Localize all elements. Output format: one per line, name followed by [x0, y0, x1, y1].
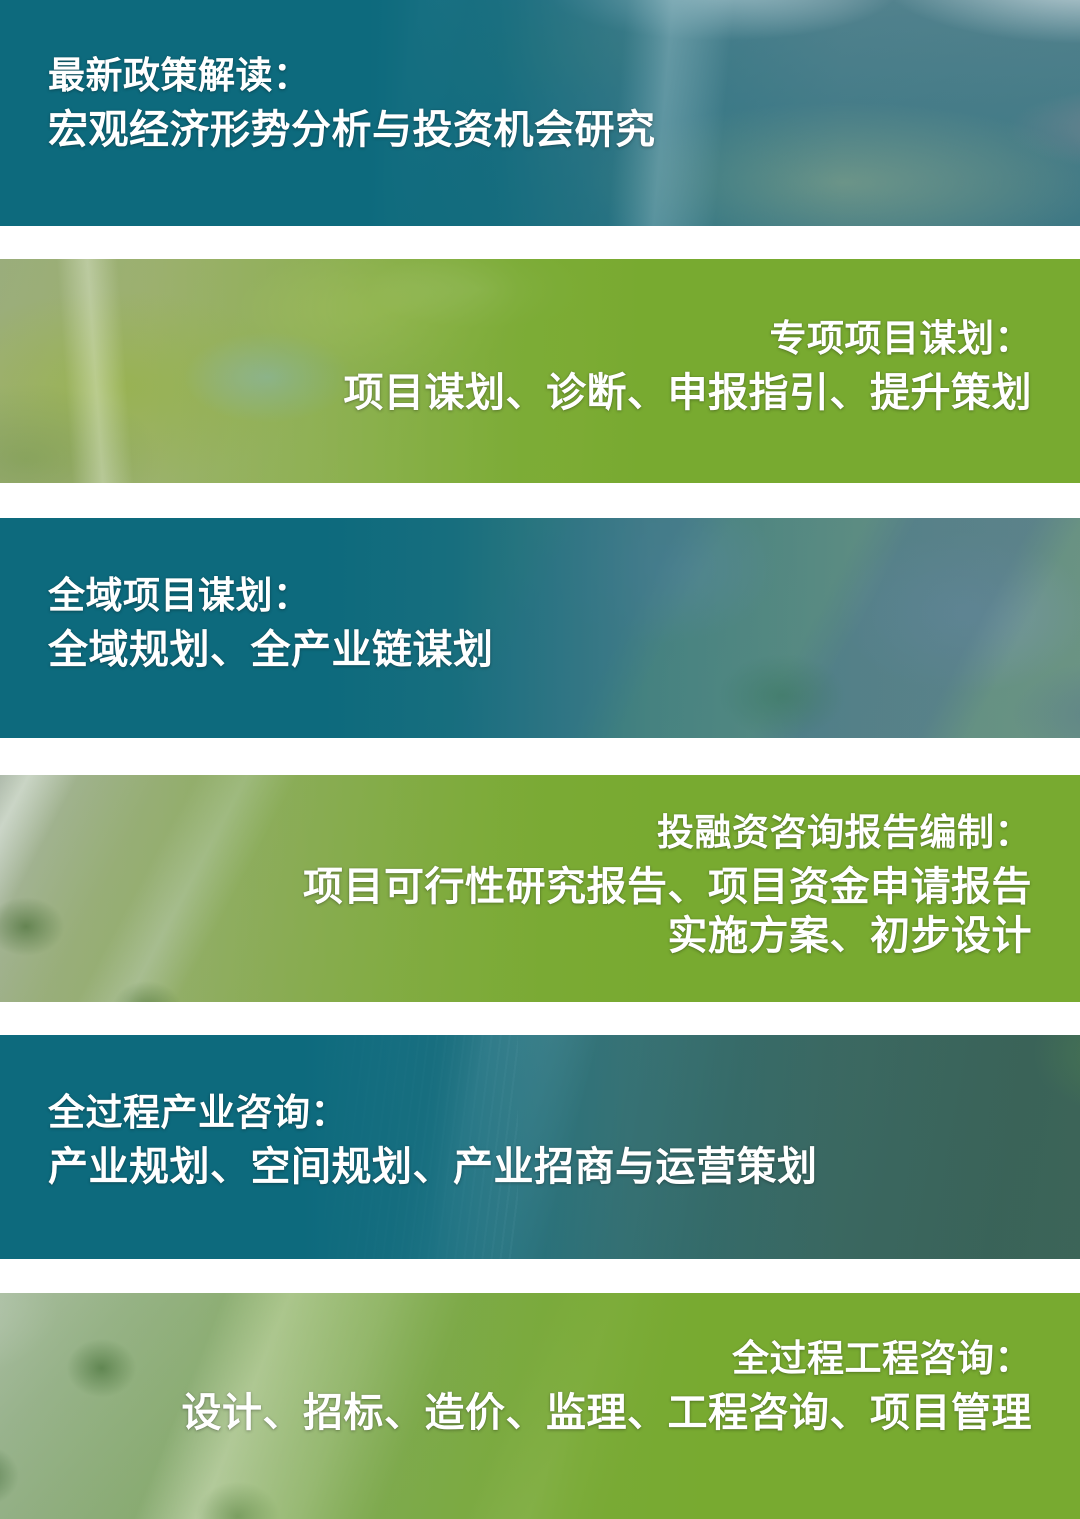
- banner-engineering-consulting[interactable]: 全过程工程咨询： 设计、招标、造价、监理、工程咨询、项目管理: [0, 1293, 1080, 1519]
- banner-special-project-heading: 专项项目谋划：: [344, 317, 1033, 361]
- banner-investment-report[interactable]: 投融资咨询报告编制： 项目可行性研究报告、项目资金申请报告 实施方案、初步设计: [0, 775, 1080, 1002]
- banner-engineering-consulting-text: 全过程工程咨询： 设计、招标、造价、监理、工程咨询、项目管理: [182, 1337, 1033, 1437]
- banner-regional-project-line-1: 全域规划、全产业链谋划: [48, 627, 494, 674]
- banner-regional-project-text: 全域项目谋划： 全域规划、全产业链谋划: [48, 574, 494, 674]
- banner-regional-project-heading: 全域项目谋划：: [48, 574, 494, 618]
- banner-special-project[interactable]: 专项项目谋划： 项目谋划、诊断、申报指引、提升策划: [0, 259, 1080, 483]
- banner-policy-text: 最新政策解读： 宏观经济形势分析与投资机会研究: [48, 54, 656, 154]
- banner-investment-report-line-2: 实施方案、初步设计: [303, 913, 1032, 960]
- banner-policy[interactable]: 最新政策解读： 宏观经济形势分析与投资机会研究: [0, 0, 1080, 226]
- banner-investment-report-text: 投融资咨询报告编制： 项目可行性研究报告、项目资金申请报告 实施方案、初步设计: [303, 811, 1032, 960]
- banner-industry-consulting-line-1: 产业规划、空间规划、产业招商与运营策划: [48, 1144, 818, 1191]
- service-banner-poster: 最新政策解读： 宏观经济形势分析与投资机会研究 专项项目谋划： 项目谋划、诊断、…: [0, 0, 1080, 1519]
- banner-special-project-text: 专项项目谋划： 项目谋划、诊断、申报指引、提升策划: [344, 317, 1033, 417]
- banner-policy-heading: 最新政策解读：: [48, 54, 656, 98]
- banner-special-project-line-1: 项目谋划、诊断、申报指引、提升策划: [344, 370, 1033, 417]
- banner-engineering-consulting-line-1: 设计、招标、造价、监理、工程咨询、项目管理: [182, 1390, 1033, 1437]
- banner-policy-line-1: 宏观经济形势分析与投资机会研究: [48, 107, 656, 154]
- banner-industry-consulting-text: 全过程产业咨询： 产业规划、空间规划、产业招商与运营策划: [48, 1091, 818, 1191]
- banner-regional-project[interactable]: 全域项目谋划： 全域规划、全产业链谋划: [0, 518, 1080, 738]
- banner-industry-consulting[interactable]: 全过程产业咨询： 产业规划、空间规划、产业招商与运营策划: [0, 1035, 1080, 1259]
- banner-investment-report-line-1: 项目可行性研究报告、项目资金申请报告: [303, 864, 1032, 911]
- banner-engineering-consulting-heading: 全过程工程咨询：: [182, 1337, 1033, 1381]
- banner-investment-report-heading: 投融资咨询报告编制：: [303, 811, 1032, 855]
- banner-industry-consulting-heading: 全过程产业咨询：: [48, 1091, 818, 1135]
